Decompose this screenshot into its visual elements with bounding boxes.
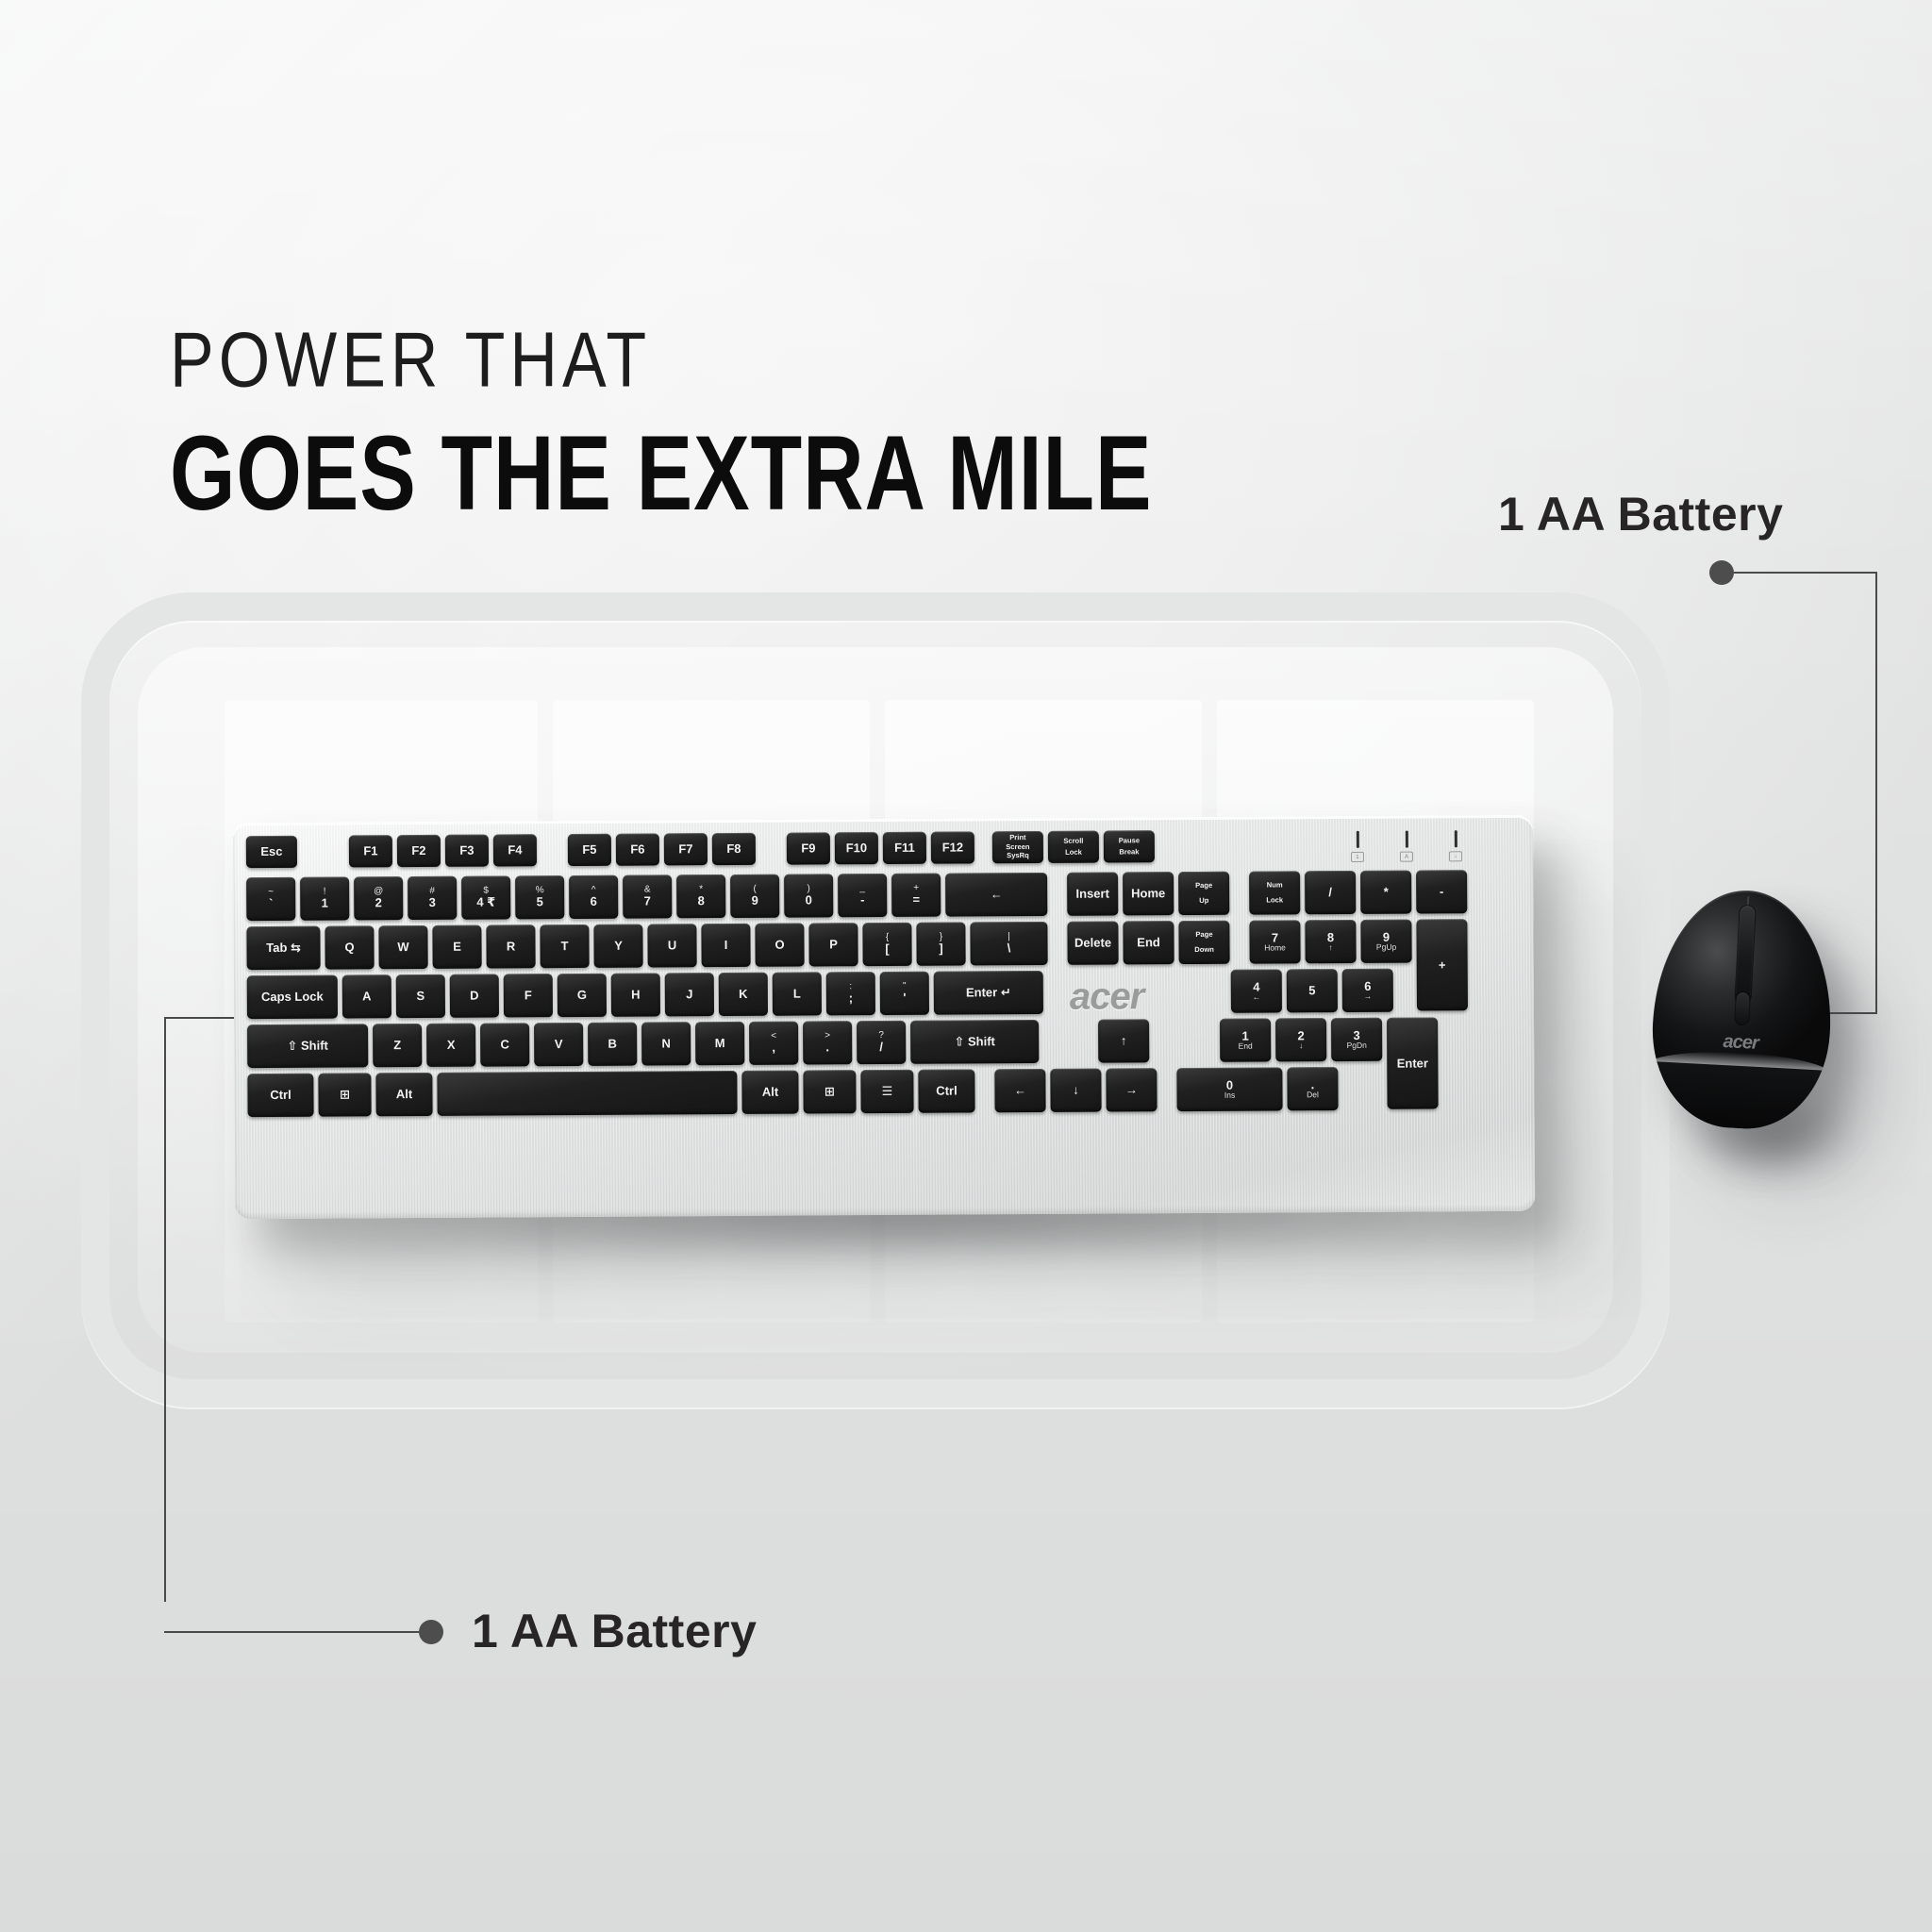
key-legend-primary: I xyxy=(724,939,728,951)
key-blank[interactable]: - xyxy=(1416,870,1467,913)
callout-leader-keyboard-h2 xyxy=(164,1631,419,1633)
product-marketing-banner: POWER THAT GOES THE EXTRA MILE 1 AA Batt… xyxy=(0,0,1932,1932)
key-legend-shifted: ? xyxy=(878,1031,884,1041)
key-legend-primary: . xyxy=(825,1041,829,1054)
key-blank[interactable]: ← xyxy=(945,873,1047,917)
key-legend: Up xyxy=(1199,897,1208,905)
key-c[interactable]: C xyxy=(480,1023,529,1066)
key-legend-primary: Delete xyxy=(1074,937,1111,950)
key-legend-primary: F10 xyxy=(846,841,867,854)
key-p[interactable]: P xyxy=(808,923,858,966)
key-u[interactable]: U xyxy=(647,924,696,967)
led-indicator: 1 xyxy=(1333,831,1382,862)
key-blank[interactable]: → xyxy=(1106,1068,1157,1111)
key-legend-secondary: Home xyxy=(1264,944,1286,953)
key-legend-primary: ← xyxy=(1014,1084,1026,1096)
callout-label-battery-keyboard: 1 AA Battery xyxy=(472,1604,757,1658)
key-legend-primary: → xyxy=(1125,1084,1138,1096)
key-legend-primary: 1 xyxy=(322,897,328,909)
key-legend-shifted: $ xyxy=(483,887,489,896)
key-legend-primary: C xyxy=(500,1039,508,1051)
key-legend-primary: 4 ₹ xyxy=(476,896,495,908)
key-legend-primary: S xyxy=(416,990,425,1002)
key-legend-secondary: Del xyxy=(1307,1091,1319,1099)
key-b[interactable]: B xyxy=(588,1023,637,1066)
key-legend-primary: / xyxy=(879,1041,883,1053)
led-indicator: ↓ xyxy=(1431,830,1480,861)
key-legend-secondary: → xyxy=(1364,992,1373,1001)
key-y[interactable]: Y xyxy=(593,924,642,968)
key-legend-primary: Home xyxy=(1131,887,1165,900)
keyboard-spacer xyxy=(979,1069,994,1112)
key-d[interactable]: D xyxy=(450,974,499,1017)
key-8[interactable]: *8 xyxy=(676,874,725,918)
key-l[interactable]: L xyxy=(773,972,822,1015)
key-legend-primary: Insert xyxy=(1075,888,1108,901)
key-1[interactable]: !1 xyxy=(300,876,349,920)
led-bar-icon xyxy=(1356,831,1358,848)
key-m[interactable]: M xyxy=(695,1022,744,1065)
keyboard-spacer xyxy=(979,831,992,863)
acer-wireless-mouse[interactable]: acer xyxy=(1648,886,1838,1132)
key-legend-primary: W xyxy=(397,941,408,953)
keyboard-spacer xyxy=(1154,1019,1220,1062)
key-legend-secondary: Ins xyxy=(1224,1091,1235,1100)
key-legend-shifted: < xyxy=(771,1032,776,1041)
key-r[interactable]: R xyxy=(486,924,535,968)
key-legend-primary: 9 xyxy=(752,894,758,907)
callout-leader-mouse-v xyxy=(1875,572,1877,1013)
key-legend-primary: - xyxy=(860,894,864,907)
key-enter[interactable]: Enter ↵ xyxy=(934,971,1043,1015)
keyboard-spacer xyxy=(302,835,349,867)
key-6[interactable]: ^6 xyxy=(569,875,618,919)
key-pause-break[interactable]: PauseBreak xyxy=(1104,830,1155,862)
key-2[interactable]: @2 xyxy=(354,876,403,920)
callout-dot-mouse xyxy=(1709,560,1734,585)
keyboard-spacer xyxy=(1052,873,1067,916)
keyboard-row-home: Caps LockASDFGHJKL:;"'Enter ↵4←56→ xyxy=(247,969,1398,1019)
key-legend-shifted: ( xyxy=(753,885,756,894)
key-4[interactable]: $4 ₹ xyxy=(461,875,510,919)
key-blank[interactable]: ⊞ xyxy=(803,1070,856,1113)
key-end[interactable]: End xyxy=(1123,921,1174,964)
key-legend-primary: ↓ xyxy=(1073,1084,1079,1096)
key-9[interactable]: 9PgUp xyxy=(1360,920,1411,963)
key-n[interactable]: N xyxy=(641,1022,691,1065)
key-alt[interactable]: Alt xyxy=(741,1071,798,1114)
key-blank[interactable]: ← xyxy=(994,1069,1045,1112)
key-home[interactable]: Home xyxy=(1123,872,1174,915)
mouse-scroll-wheel[interactable] xyxy=(1735,906,1755,1005)
headline-line-2: GOES THE EXTRA MILE xyxy=(170,421,1152,526)
key-legend-shifted: } xyxy=(940,933,942,942)
key-legend-shifted: { xyxy=(886,933,889,942)
key-legend-primary: N xyxy=(661,1038,670,1050)
key-legend: Scroll xyxy=(1063,837,1083,844)
key-0[interactable]: )0 xyxy=(784,874,833,917)
key-legend-primary: J xyxy=(686,989,692,1001)
key-legend-primary: + xyxy=(1439,958,1446,971)
callout-leader-keyboard-v xyxy=(164,1017,166,1602)
key-legend: Break xyxy=(1119,849,1139,857)
key-legend-primary: F1 xyxy=(363,845,377,858)
key-blank[interactable]: ~` xyxy=(246,877,295,921)
key-k[interactable]: K xyxy=(719,973,768,1016)
key-legend-primary: R xyxy=(507,941,515,953)
keyboard-spacer xyxy=(541,834,568,866)
keyboard-spacer xyxy=(1161,1068,1176,1111)
key-v[interactable]: V xyxy=(534,1023,583,1066)
key-legend-primary: Enter ↵ xyxy=(966,987,1011,1000)
key-legend-secondary: ↓ xyxy=(1299,1042,1303,1051)
key-legend: Screen xyxy=(1006,843,1029,851)
key-legend-primary: F8 xyxy=(726,842,741,855)
key-legend-primary: ; xyxy=(849,992,853,1005)
key-caps-lock[interactable]: Caps Lock xyxy=(247,975,338,1020)
key-legend-primary: ← xyxy=(991,889,1003,901)
key-5[interactable]: %5 xyxy=(515,875,564,919)
key-legend-primary: 8 xyxy=(698,895,705,908)
key-legend-primary: Ctrl xyxy=(936,1085,957,1097)
key-shift[interactable]: ⇧ Shift xyxy=(910,1020,1039,1064)
key-insert[interactable]: Insert xyxy=(1067,872,1118,915)
key-f7[interactable]: F7 xyxy=(664,833,708,865)
callout-label-battery-mouse: 1 AA Battery xyxy=(1498,487,1783,541)
keyboard-spacer xyxy=(1043,1020,1098,1063)
key-blank[interactable]: :; xyxy=(826,972,875,1015)
keyboard-deck: EscF1F2F3F4F5F6F7F8F9F10F11F12PrintScree… xyxy=(246,824,1522,1207)
key-legend-primary: 6 xyxy=(591,895,597,908)
key-legend-primary: F7 xyxy=(678,843,692,856)
key-legend-primary: B xyxy=(608,1038,616,1050)
key-legend-shifted: # xyxy=(429,887,435,896)
key-legend-shifted: ! xyxy=(324,888,326,897)
key-legend: Lock xyxy=(1266,897,1283,905)
key-legend-primary: ' xyxy=(903,991,906,1004)
key-f1[interactable]: F1 xyxy=(349,835,392,867)
key-8[interactable]: 8↑ xyxy=(1305,920,1356,963)
key-blank[interactable]: .Del xyxy=(1287,1067,1338,1110)
key-2[interactable]: 2↓ xyxy=(1275,1018,1326,1061)
key-legend-primary: F9 xyxy=(801,842,815,855)
headline-line-1: POWER THAT xyxy=(170,321,1183,399)
key-legend-primary: K xyxy=(739,988,747,1000)
key-blank[interactable]: >. xyxy=(803,1021,852,1064)
key-f10[interactable]: F10 xyxy=(835,832,878,864)
key-legend-primary: , xyxy=(772,1041,775,1054)
key-legend-primary: ⇧ Shift xyxy=(287,1040,327,1053)
key-f12[interactable]: F12 xyxy=(931,831,974,863)
key-blank[interactable] xyxy=(437,1071,737,1116)
key-legend-primary: P xyxy=(829,939,838,951)
callout-dot-keyboard xyxy=(419,1620,443,1644)
key-legend-primary: F12 xyxy=(942,841,963,854)
key-legend-primary: \ xyxy=(1008,942,1011,955)
keyboard-row-bottom: Ctrl⊞AltAlt⊞☰Ctrl←↓→0Ins.Del xyxy=(247,1067,1342,1117)
key-legend: Page xyxy=(1195,881,1212,889)
key-shift[interactable]: ⇧ Shift xyxy=(247,1024,368,1068)
key-legend-primary: = xyxy=(912,893,920,906)
key-legend-primary: 0 xyxy=(806,894,812,907)
key-legend-secondary: ↑ xyxy=(1328,943,1332,952)
key-legend-primary: ↑ xyxy=(1121,1035,1127,1047)
key-blank[interactable]: + xyxy=(1416,919,1468,1010)
key-legend-shifted: | xyxy=(1008,932,1010,941)
key-delete[interactable]: Delete xyxy=(1067,921,1118,964)
led-indicator: A xyxy=(1382,830,1431,861)
key-0[interactable]: 0Ins xyxy=(1176,1067,1282,1111)
key-scroll-lock[interactable]: ScrollLock xyxy=(1048,831,1099,863)
key-legend-primary: T xyxy=(561,940,569,952)
key-legend-primary: - xyxy=(1440,886,1443,898)
key-blank[interactable]: ☰ xyxy=(860,1070,913,1113)
key-legend-primary: G xyxy=(577,989,587,1001)
led-label: A xyxy=(1400,852,1413,862)
key-7[interactable]: &7 xyxy=(623,874,672,918)
key-z[interactable]: Z xyxy=(373,1024,422,1067)
key-9[interactable]: (9 xyxy=(730,874,779,918)
key-legend-secondary: PgUp xyxy=(1376,943,1396,952)
key-legend-primary: ☰ xyxy=(882,1085,893,1097)
key-legend-primary: F2 xyxy=(411,844,425,857)
key-ctrl[interactable]: Ctrl xyxy=(247,1074,313,1117)
key-j[interactable]: J xyxy=(665,973,714,1016)
keyboard-spacer xyxy=(1052,922,1067,965)
key-legend-shifted: & xyxy=(644,886,651,895)
key-legend-primary: M xyxy=(715,1037,725,1049)
key-blank[interactable]: "' xyxy=(880,972,929,1015)
key-legend-primary: 7 xyxy=(644,895,651,908)
key-legend: Down xyxy=(1194,946,1214,954)
key-6[interactable]: 6→ xyxy=(1342,969,1393,1012)
key-f4[interactable]: F4 xyxy=(493,834,537,866)
key-g[interactable]: G xyxy=(558,974,607,1017)
key-legend-primary: E xyxy=(453,941,461,953)
key-3[interactable]: 3PgDn xyxy=(1331,1018,1382,1061)
key-x[interactable]: X xyxy=(426,1024,475,1067)
key-legend-primary: Tab ⇆ xyxy=(266,941,301,954)
keyboard-row-numbers: ~`!1@2#3$4 ₹%5^6&7*8(9)0_-+=←InsertHomeP… xyxy=(246,870,1472,921)
key-blank[interactable]: }] xyxy=(916,922,965,965)
key-legend-secondary: ← xyxy=(1253,993,1261,1002)
key-legend-primary: 5 xyxy=(1308,985,1315,997)
key-legend-primary: Alt xyxy=(396,1088,412,1100)
key-legend: SysRq xyxy=(1007,853,1029,860)
key-q[interactable]: Q xyxy=(325,925,374,969)
key-legend-shifted: _ xyxy=(859,884,865,893)
key-legend-shifted: : xyxy=(849,982,852,991)
key-f[interactable]: F xyxy=(504,974,553,1017)
led-label: ↓ xyxy=(1449,851,1462,861)
key-legend: Lock xyxy=(1065,849,1082,857)
key-legend-primary: 3 xyxy=(429,896,436,908)
key-legend-primary: H xyxy=(631,989,640,1001)
key-e[interactable]: E xyxy=(432,925,481,969)
key-legend: Pause xyxy=(1119,837,1140,844)
key-blank[interactable]: ?/ xyxy=(857,1021,906,1064)
key-f3[interactable]: F3 xyxy=(445,835,489,867)
key-blank[interactable]: <, xyxy=(749,1022,798,1065)
led-label: 1 xyxy=(1351,852,1364,862)
key-legend-primary: Enter xyxy=(1397,1057,1428,1069)
key-legend-primary: Q xyxy=(344,941,354,954)
led-bar-icon xyxy=(1454,830,1457,847)
led-bar-icon xyxy=(1405,831,1407,848)
key-f6[interactable]: F6 xyxy=(616,833,659,865)
key-legend-primary: / xyxy=(1328,886,1332,898)
key-i[interactable]: I xyxy=(701,924,750,967)
key-o[interactable]: O xyxy=(755,924,804,967)
key-legend: Print xyxy=(1009,834,1025,841)
key-legend-primary: ] xyxy=(939,942,942,955)
key-legend-primary: Z xyxy=(393,1040,401,1052)
key-f5[interactable]: F5 xyxy=(568,834,611,866)
key-3[interactable]: #3 xyxy=(408,876,457,920)
key-legend-primary: Esc xyxy=(260,845,282,858)
key-legend-primary: D xyxy=(470,990,478,1002)
key-page-up[interactable]: PageUp xyxy=(1178,872,1229,915)
key-legend-shifted: + xyxy=(913,884,919,893)
keyboard-spacer xyxy=(760,833,787,865)
key-legend-primary: End xyxy=(1137,936,1160,949)
acer-logo-mouse: acer xyxy=(1723,1031,1758,1055)
key-legend-primary: O xyxy=(774,939,784,951)
key-legend-shifted: ^ xyxy=(591,886,596,895)
key-h[interactable]: H xyxy=(611,973,660,1016)
keyboard-row-function: EscF1F2F3F4F5F6F7F8F9F10F11F12PrintScree… xyxy=(246,830,1159,868)
keyboard-indicator-leds: 1A↓ xyxy=(1333,830,1480,862)
key-tab[interactable]: Tab ⇆ xyxy=(246,926,320,970)
key-enter[interactable]: Enter xyxy=(1387,1017,1439,1108)
key-legend-primary: * xyxy=(1384,886,1389,898)
callout-leader-mouse-h1 xyxy=(1734,572,1877,574)
key-legend: Num xyxy=(1267,881,1283,889)
key-page-down[interactable]: PageDown xyxy=(1178,921,1229,964)
key-legend-primary: ` xyxy=(269,897,273,909)
keyboard-row-shift: ⇧ ShiftZXCVBNM<,>.?/⇧ Shift↑1End2↓3PgDnE… xyxy=(247,1017,1442,1068)
key-legend-primary: 2 xyxy=(375,897,382,909)
key-legend-primary: L xyxy=(793,988,801,1000)
key-5[interactable]: 5 xyxy=(1287,969,1338,1012)
key-legend-shifted: > xyxy=(824,1032,830,1041)
key-legend: Page xyxy=(1195,930,1212,938)
key-legend-primary: Caps Lock xyxy=(261,991,324,1004)
key-4[interactable]: 4← xyxy=(1231,969,1282,1012)
headline-block: POWER THAT GOES THE EXTRA MILE xyxy=(170,321,1183,508)
key-legend-secondary: End xyxy=(1239,1042,1253,1051)
key-legend-primary: U xyxy=(668,940,676,952)
key-legend-shifted: " xyxy=(903,982,907,991)
key-legend-primary: F3 xyxy=(459,844,474,857)
keyboard-spacer xyxy=(1234,921,1249,964)
mouse-dpi-button[interactable] xyxy=(1735,992,1750,1025)
key-legend-primary: Ctrl xyxy=(270,1089,291,1101)
key-1[interactable]: 1End xyxy=(1220,1018,1271,1061)
key-blank[interactable]: / xyxy=(1305,871,1356,914)
key-legend-primary: [ xyxy=(885,942,889,955)
key-legend-primary: Y xyxy=(614,940,623,952)
key-legend-primary: X xyxy=(447,1039,456,1051)
key-w[interactable]: W xyxy=(378,925,427,969)
key-print-screen-sysrq[interactable]: PrintScreenSysRq xyxy=(992,831,1043,863)
keyboard-spacer xyxy=(1234,872,1249,915)
key-blank[interactable]: ⊞ xyxy=(318,1073,371,1116)
key-alt[interactable]: Alt xyxy=(375,1073,432,1116)
keyboard-row-qwerty: Tab ⇆QWERTYUIOP{[}]|\DeleteEndPageDown7H… xyxy=(246,919,1472,970)
key-legend-primary: ⊞ xyxy=(824,1086,835,1098)
key-legend-primary: A xyxy=(362,991,371,1003)
key-legend-shifted: % xyxy=(536,886,544,895)
key-legend-shifted: @ xyxy=(374,888,383,897)
key-f11[interactable]: F11 xyxy=(883,832,926,864)
key-legend-primary: ⊞ xyxy=(340,1089,350,1101)
key-f8[interactable]: F8 xyxy=(712,833,756,865)
key-blank[interactable]: |\ xyxy=(970,922,1047,966)
key-legend-primary: V xyxy=(555,1038,563,1050)
key-blank[interactable]: += xyxy=(891,874,941,917)
key-legend-primary: ⇧ Shift xyxy=(954,1036,994,1049)
key-legend-shifted: ~ xyxy=(268,888,274,897)
key-legend-shifted: ) xyxy=(807,885,809,894)
key-blank[interactable]: ↓ xyxy=(1050,1069,1101,1112)
key-blank[interactable]: ↑ xyxy=(1098,1019,1149,1062)
key-blank[interactable]: _- xyxy=(838,874,887,917)
key-s[interactable]: S xyxy=(396,974,445,1018)
key-ctrl[interactable]: Ctrl xyxy=(918,1069,974,1112)
key-legend-primary: F xyxy=(525,990,532,1002)
key-legend-primary: Alt xyxy=(762,1086,778,1098)
key-legend-primary: F11 xyxy=(894,841,915,854)
key-esc[interactable]: Esc xyxy=(246,836,297,868)
key-blank[interactable]: {[ xyxy=(862,923,911,966)
key-a[interactable]: A xyxy=(342,974,391,1018)
key-legend-shifted: * xyxy=(699,885,703,894)
key-t[interactable]: T xyxy=(540,924,589,968)
acer-logo-keyboard: acer xyxy=(1070,975,1144,1018)
keyboard-spacer xyxy=(1048,971,1063,1014)
key-legend-primary: 5 xyxy=(537,896,543,908)
key-legend-primary: F5 xyxy=(582,843,596,856)
key-blank[interactable]: * xyxy=(1360,871,1411,914)
key-num-lock[interactable]: NumLock xyxy=(1249,871,1300,914)
key-legend-primary: F6 xyxy=(630,843,644,856)
key-legend-primary: F4 xyxy=(508,844,522,857)
key-f9[interactable]: F9 xyxy=(787,832,830,864)
acer-wireless-keyboard[interactable]: EscF1F2F3F4F5F6F7F8F9F10F11F12PrintScree… xyxy=(233,815,1536,1219)
key-7[interactable]: 7Home xyxy=(1249,920,1300,963)
key-legend-secondary: PgDn xyxy=(1347,1041,1367,1050)
key-f2[interactable]: F2 xyxy=(397,835,441,867)
